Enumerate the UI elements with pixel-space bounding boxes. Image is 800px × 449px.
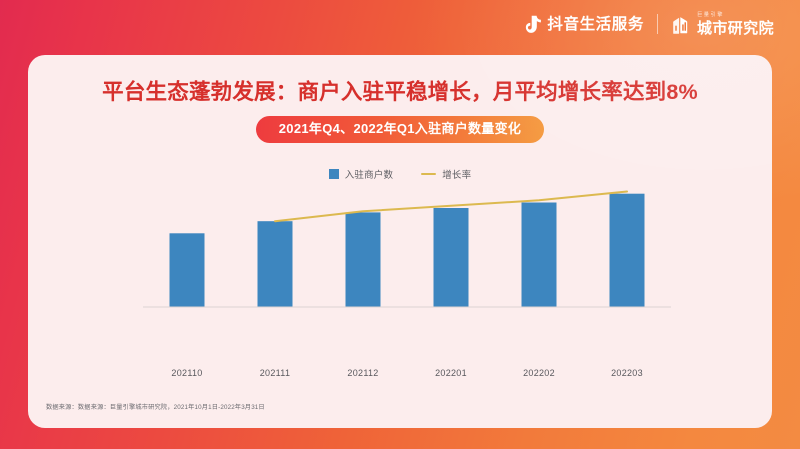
chart-plot-area [143, 188, 671, 308]
legend-label-bars: 入驻商户数 [345, 167, 394, 181]
chart-bars [170, 194, 645, 307]
brand-city-stack: 巨量引擎 城市研究院 [697, 13, 774, 36]
chart-subtitle-pill: 2021年Q4、2022年Q1入驻商户数量变化 [256, 116, 544, 143]
douyin-note-icon [525, 15, 542, 34]
chart-bar [346, 212, 381, 307]
brand-divider [657, 14, 658, 34]
brand-city-label: 城市研究院 [697, 21, 774, 36]
legend-item-line: 增长率 [421, 167, 471, 181]
x-tick-label: 202110 [143, 368, 231, 378]
chart-legend: 入驻商户数 增长率 [28, 167, 772, 181]
subtitle-pill-wrap: 2021年Q4、2022年Q1入驻商户数量变化 [28, 116, 772, 143]
legend-swatch-bar-icon [329, 169, 339, 179]
data-source-note: 数据来源：数据来源：巨量引擎城市研究院，2021年10月1日-2022年3月31… [46, 401, 265, 411]
x-tick-label: 202202 [495, 368, 583, 378]
brand-city-research-institute: 巨量引擎 城市研究院 [671, 13, 774, 36]
chart-bar [170, 233, 205, 307]
x-tick-label: 202201 [407, 368, 495, 378]
chart-bar [610, 194, 645, 307]
chart-bar [434, 208, 469, 307]
legend-item-bars: 入驻商户数 [329, 167, 394, 181]
x-tick-label: 202111 [231, 368, 319, 378]
legend-swatch-line-icon [421, 173, 436, 176]
slide-root: 抖音生活服务 巨量引擎 城市研究院 平台生态蓬勃发展：商户入驻平稳增长，月平均增… [0, 0, 800, 449]
x-tick-label: 202112 [319, 368, 407, 378]
x-tick-label: 202203 [583, 368, 671, 378]
chart-svg [143, 188, 671, 308]
brand-douyin-label: 抖音生活服务 [547, 17, 644, 33]
content-card: 平台生态蓬勃发展：商户入驻平稳增长，月平均增长率达到8% 2021年Q4、202… [28, 55, 772, 428]
brand-bar: 抖音生活服务 巨量引擎 城市研究院 [525, 13, 774, 36]
brand-city-kicker: 巨量引擎 [697, 13, 724, 18]
chart-bar [258, 221, 293, 307]
building-chart-icon [671, 14, 691, 34]
chart-x-axis: 202110 202111 202112 202201 202202 20220… [143, 368, 671, 378]
chart-bar [522, 203, 557, 308]
legend-label-line: 增长率 [442, 167, 471, 181]
brand-douyin-life-service: 抖音生活服务 [525, 15, 644, 34]
page-title: 平台生态蓬勃发展：商户入驻平稳增长，月平均增长率达到8% [28, 75, 772, 106]
